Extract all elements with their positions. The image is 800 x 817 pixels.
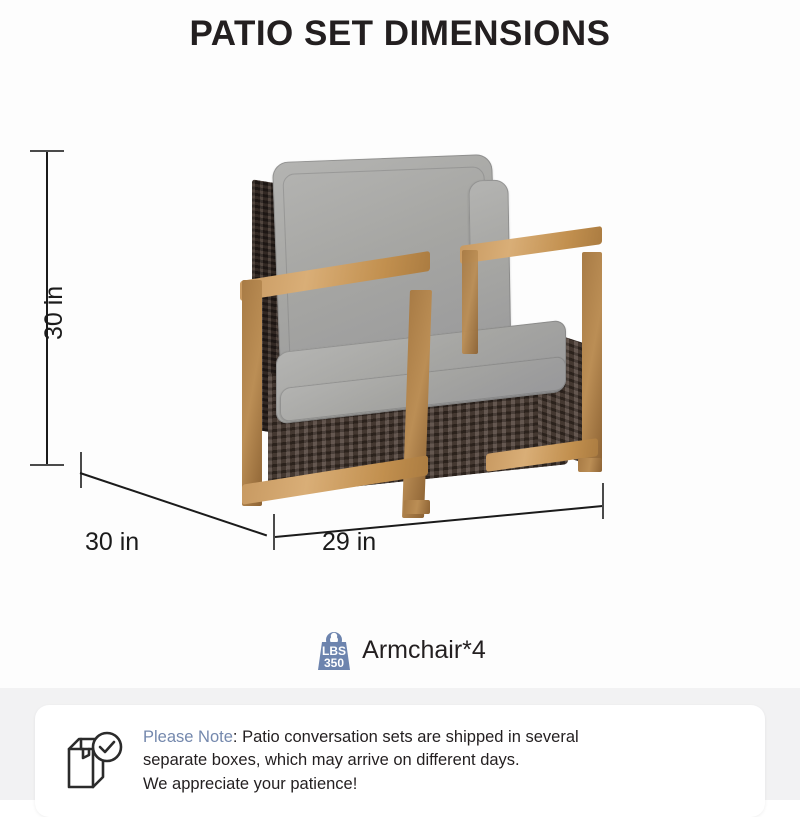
height-dimension-tick-top [30,150,64,152]
width-dimension-tick-left [273,514,275,550]
note-line-2: separate boxes, which may arrive on diff… [143,751,520,769]
capacity-row: LBS 350 Armchair*4 [0,628,800,672]
note-prefix: Please Note [143,728,233,746]
weight-value-text: 350 [324,656,344,670]
note-separator: : [233,728,242,746]
height-dimension-label: 30 in [40,286,69,340]
package-check-icon [57,725,129,797]
width-dimension-label: 29 in [322,528,376,557]
chair-right-foot [578,458,602,472]
dimension-diagram: 30 in 30 in 29 in [0,120,800,590]
chair-right-arm-front-post [582,252,602,464]
depth-dimension-tick-start [80,452,82,488]
chair-right-arm-rear-post [462,250,478,354]
infographic-page: PATIO SET DIMENSIONS [0,0,800,800]
armchair-illustration [238,140,618,540]
shipping-note-text: Please Note: Patio conversation sets are… [143,726,579,796]
note-line-3: We appreciate your patience! [143,775,357,793]
weight-icon: LBS 350 [314,628,354,672]
height-dimension-tick-bottom [30,464,64,466]
shipping-note-card: Please Note: Patio conversation sets are… [35,705,765,817]
chair-left-foot [404,500,430,514]
note-line-1: Patio conversation sets are shipped in s… [242,728,579,746]
depth-dimension-label: 30 in [85,528,139,557]
width-dimension-tick-right [602,483,604,519]
page-title: PATIO SET DIMENSIONS [0,14,800,54]
capacity-item-label: Armchair*4 [362,636,486,665]
chair-left-arm-rear-post [242,280,262,506]
